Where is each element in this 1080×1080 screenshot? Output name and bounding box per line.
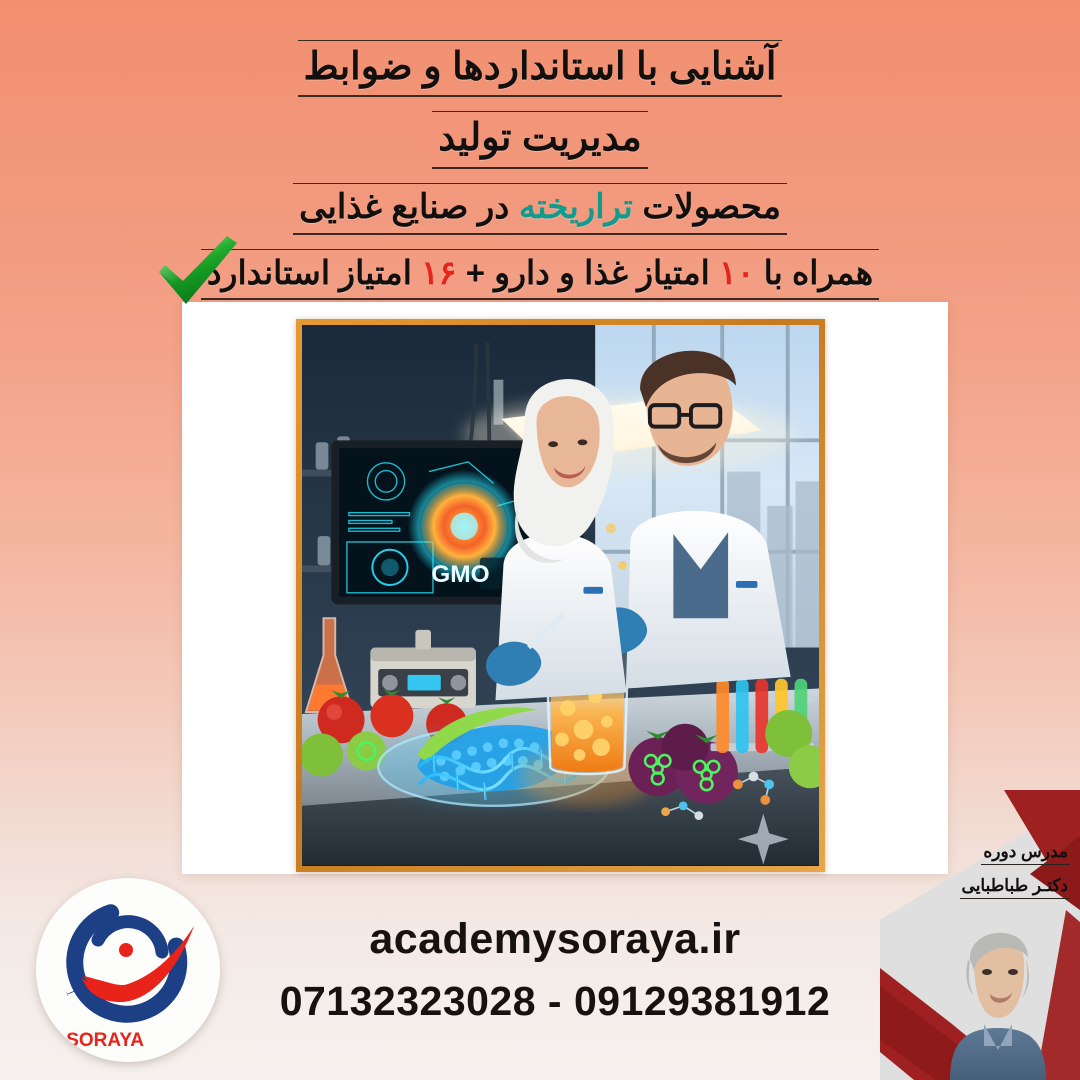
- headline-4-points-food-drug: ۱۰: [719, 254, 754, 291]
- academy-soraya-logo-icon: آکادمی ثریا ACADEMY SORAYA: [36, 878, 220, 1062]
- academy-logo[interactable]: آکادمی ثریا ACADEMY SORAYA: [36, 878, 220, 1062]
- headline-4-points-standard: ۱۶: [421, 254, 456, 291]
- photo-frame: GMO: [296, 319, 825, 872]
- website-url[interactable]: academysoraya.ir: [245, 915, 865, 964]
- logo-word-soraya: SORAYA: [66, 1030, 144, 1051]
- instructor-text-block: مدرس دوره دکتـر طباطبایی: [960, 842, 1070, 910]
- headline-4-part-3: امتیاز غذا و دارو +: [457, 254, 719, 291]
- headline-line-4: همراه با ۱۰ امتیاز غذا و دارو + ۱۶ امتیا…: [201, 249, 879, 300]
- headline-4-part-1: همراه با: [754, 254, 873, 291]
- headline-3-part-3: در صنایع غذایی: [299, 188, 519, 226]
- instructor-name: دکتـر طباطبایی: [960, 876, 1070, 899]
- poster-root: آشنایی با استانداردها و ضوابط مدیریت تول…: [0, 0, 1080, 1080]
- headline-row-3: محصولات تراریخته در صنایع غذایی: [0, 183, 1080, 235]
- headline-3-highlight-transgenic: تراریخته: [519, 188, 633, 226]
- headline-line-1: آشنایی با استانداردها و ضوابط: [298, 40, 783, 97]
- headline-line-3: محصولات تراریخته در صنایع غذایی: [293, 183, 787, 235]
- instructor-portrait: [938, 920, 1058, 1080]
- headline-row-1: آشنایی با استانداردها و ضوابط: [0, 40, 1080, 97]
- instructor-badge: مدرس دوره دکتـر طباطبایی: [880, 790, 1080, 1080]
- screen-gmo-label: GMO: [431, 561, 489, 588]
- green-check-icon: [155, 234, 241, 308]
- instructor-role-label: مدرس دوره: [981, 842, 1070, 865]
- footer-contact: academysoraya.ir 07132323028 - 091293819…: [245, 915, 865, 1025]
- logo-word-academy: ACADEMY: [36, 1030, 60, 1051]
- phone-numbers[interactable]: 07132323028 - 09129381912: [245, 978, 865, 1025]
- headline-3-part-1: محصولات: [633, 188, 781, 226]
- lab-photo: GMO: [302, 325, 819, 866]
- headline-row-2: مدیریت تولید: [0, 111, 1080, 168]
- headline-line-2: مدیریت تولید: [432, 111, 648, 168]
- lab-scene-illustration: GMO: [302, 325, 819, 865]
